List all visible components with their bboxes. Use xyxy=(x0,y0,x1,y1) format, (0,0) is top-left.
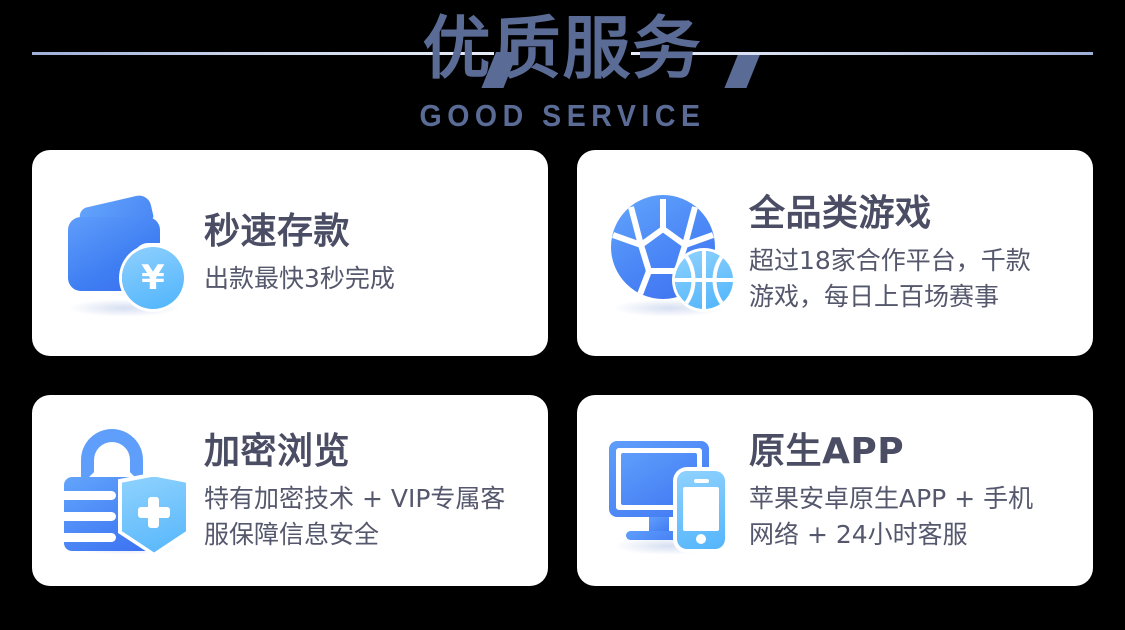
feature-card-native-app[interactable]: 原生APP 苹果安卓原生APP + 手机 网络 + 24小时客服 xyxy=(577,395,1093,586)
card-text-block: 秒速存款 出款最快3秒完成 xyxy=(192,209,405,297)
wallet-yen-icon: ¥ xyxy=(60,187,192,319)
feature-card-encryption[interactable]: 加密浏览 特有加密技术 + VIP专属客 服保障信息安全 xyxy=(32,395,548,586)
card-text-block: 原生APP 苹果安卓原生APP + 手机 网络 + 24小时客服 xyxy=(737,429,1043,553)
feature-card-deposit[interactable]: ¥ 秒速存款 出款最快3秒完成 xyxy=(32,150,548,356)
feature-card-games[interactable]: 全品类游戏 超过18家合作平台，千款 游戏，每日上百场赛事 xyxy=(577,150,1093,356)
card-title: 全品类游戏 xyxy=(749,191,1031,237)
card-text-block: 全品类游戏 超过18家合作平台，千款 游戏，每日上百场赛事 xyxy=(737,191,1041,315)
card-title: 原生APP xyxy=(749,429,1033,475)
phone-screen xyxy=(683,487,719,531)
card-subtitle: 超过18家合作平台，千款 游戏，每日上百场赛事 xyxy=(749,243,1031,315)
lock-shield-icon xyxy=(60,425,192,557)
lock-slot xyxy=(64,512,116,521)
card-text-block: 加密浏览 特有加密技术 + VIP专属客 服保障信息安全 xyxy=(192,429,515,553)
card-subtitle: 苹果安卓原生APP + 手机 网络 + 24小时客服 xyxy=(749,481,1033,553)
lock-slot xyxy=(64,491,116,500)
basketball-icon xyxy=(675,251,733,309)
yen-coin-icon: ¥ xyxy=(122,247,184,309)
monitor-phone-icon xyxy=(605,425,737,557)
soccer-basketball-icon xyxy=(605,187,737,319)
page-subtitle: GOOD SERVICE xyxy=(45,97,1080,135)
card-title: 秒速存款 xyxy=(204,209,395,255)
banner-header: 优质服务 GOOD SERVICE xyxy=(0,0,1125,148)
card-title: 加密浏览 xyxy=(204,429,505,475)
page-title: 优质服务 xyxy=(0,8,1125,92)
plus-icon xyxy=(148,497,159,528)
card-subtitle: 出款最快3秒完成 xyxy=(204,261,395,297)
lock-slot xyxy=(64,533,116,542)
feature-card-grid: ¥ 秒速存款 出款最快3秒完成 xyxy=(32,150,1093,586)
phone-home-button xyxy=(696,534,706,544)
card-subtitle: 特有加密技术 + VIP专属客 服保障信息安全 xyxy=(204,481,505,553)
good-service-banner: 优质服务 GOOD SERVICE ¥ 秒速存款 出款最快3秒完成 xyxy=(0,0,1125,630)
phone-speaker xyxy=(694,479,709,483)
